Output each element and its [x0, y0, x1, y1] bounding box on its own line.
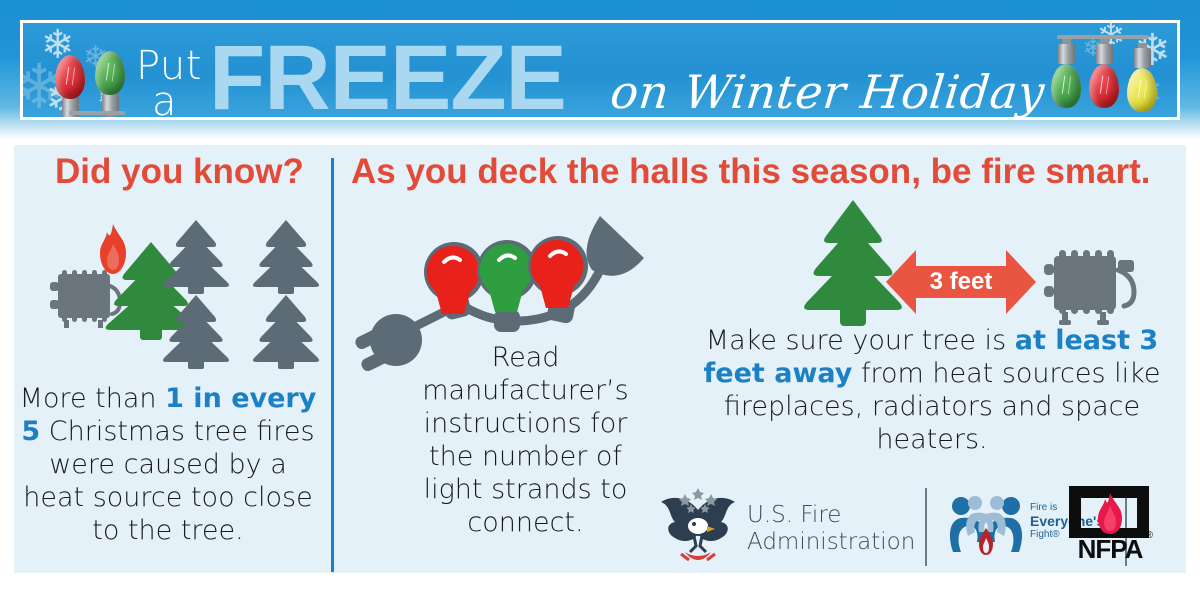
- banner-title-word2: a: [152, 79, 177, 120]
- usfa-line1: U.S. Fire: [747, 502, 915, 529]
- column-divider: [331, 158, 334, 572]
- christmas-light-bulb-icon: [95, 51, 125, 120]
- christmas-tree-icon: [247, 218, 325, 294]
- radiator-icon: [1042, 248, 1138, 326]
- christmas-tree-icon: [247, 293, 325, 369]
- usfa-line2: Administration: [747, 529, 915, 556]
- logo-divider: [925, 488, 927, 566]
- light-bulb-red-icon: [528, 236, 588, 324]
- people-flame-icon: [947, 494, 1025, 558]
- christmas-light-bulb-icon: [1127, 43, 1157, 112]
- usfa-logo[interactable]: [655, 480, 741, 568]
- right-column-text: Make sure your tree is at least 3 feet a…: [682, 324, 1182, 456]
- banner-frame: ❄ ❄ ❄ ❄ ❄ Put a FREEZE on Winter Holiday…: [20, 20, 1180, 120]
- socket-icon: [587, 216, 644, 276]
- christmas-tree-icon: [157, 218, 235, 294]
- nfpa-flame-icon: [1095, 492, 1125, 536]
- usfa-logo-text: U.S. Fire Administration: [747, 502, 915, 556]
- header-banner: ❄ ❄ ❄ ❄ ❄ Put a FREEZE on Winter Holiday…: [0, 0, 1200, 140]
- christmas-light-bulb-icon: [1051, 39, 1081, 108]
- nfpa-logo[interactable]: NFPA ®: [1067, 486, 1153, 568]
- arrow-label: 3 feet: [886, 266, 1036, 298]
- left-column-heading: Did you know?: [55, 152, 304, 192]
- eagle-icon: [655, 480, 741, 568]
- banner-title-freeze: FREEZE: [209, 26, 566, 120]
- left-column-text: More than 1 in every 5 Christmas tree fi…: [18, 382, 318, 547]
- christmas-tree-icon: [157, 293, 235, 369]
- center-column-heading: As you deck the halls this season, be fi…: [351, 152, 1150, 192]
- christmas-light-bulb-icon: [1089, 39, 1119, 108]
- nfpa-registered-mark: ®: [1146, 530, 1153, 541]
- infographic-root: ❄ ❄ ❄ ❄ ❄ Put a FREEZE on Winter Holiday…: [0, 0, 1200, 600]
- banner-title-small: Put a: [128, 47, 218, 120]
- logo-row: U.S. Fire Administration Fire is Everyon…: [655, 480, 1185, 575]
- electric-plug-icon: [353, 314, 422, 373]
- feef-logo[interactable]: [947, 494, 1025, 558]
- nfpa-wordmark: NFPA: [1067, 534, 1153, 565]
- light-wire: [69, 111, 125, 115]
- distance-arrow-icon: 3 feet: [886, 250, 1036, 314]
- center-column-text: Read manufacturer’s instructions for the…: [418, 341, 633, 539]
